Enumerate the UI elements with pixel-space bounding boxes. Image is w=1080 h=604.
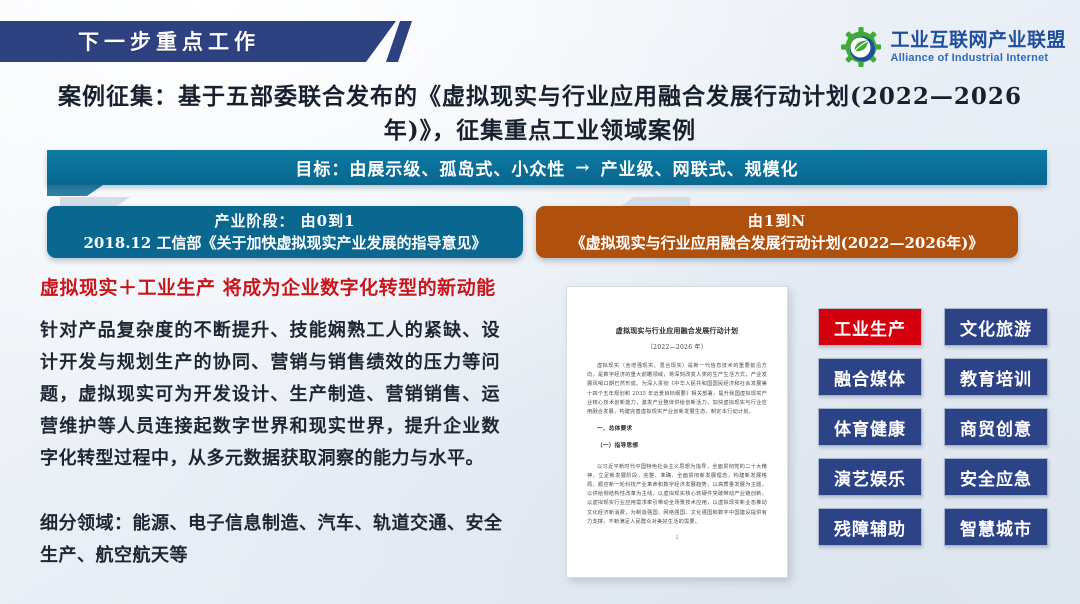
left-subfields-text: 细分领域：能源、电子信息制造、汽车、轨道交通、安全生产、航空航天等 [40, 508, 510, 572]
gear-leaf-logo-icon [839, 25, 883, 69]
document-paragraph-2: 以习近平新时代中国特色社会主义思想为指导，全面贯彻党的二十大精神，立足新发展阶段… [587, 463, 767, 527]
document-heading-1: 一、总体要求 [587, 425, 767, 434]
chip-sports-health[interactable]: 体育健康 [818, 408, 922, 446]
logo-wordmark: 工业互联网产业联盟 Alliance of Industrial Interne… [890, 31, 1066, 64]
goal-bar: 目标：由展示级、孤岛式、小众性 → 产业级、网联式、规模化 [47, 150, 1047, 185]
document-preview-thumbnail[interactable]: 虚拟现实与行业应用融合发展行动计划 （2022—2026 年） 虚拟现实（含增强… [566, 286, 788, 578]
slide-root: 下一步重点工作 [0, 0, 1080, 604]
stage-orange-line1: 由1到N [748, 211, 806, 232]
document-subtitle: （2022—2026 年） [587, 342, 767, 351]
chip-safety-emergency[interactable]: 安全应急 [944, 458, 1048, 496]
stage-blue-line2: 2018.12 工信部《关于加快虚拟现实产业发展的指导意见》 [83, 232, 486, 254]
ribbon-title: 下一步重点工作 [78, 21, 260, 62]
chip-industrial-production[interactable]: 工业生产 [818, 308, 922, 346]
stage-blue-line1: 产业阶段： 由0到1 [214, 211, 355, 232]
document-page-number: 1 [587, 535, 767, 541]
logo-name-en: Alliance of Industrial Internet [890, 53, 1066, 64]
chip-smart-city[interactable]: 智慧城市 [944, 508, 1048, 546]
document-title: 虚拟现实与行业应用融合发展行动计划 [587, 325, 767, 336]
goal-bar-tab-accent [47, 185, 103, 196]
chip-commerce-creative[interactable]: 商贸创意 [944, 408, 1048, 446]
stage-orange-line2: 《虚拟现实与行业应用融合发展行动计划(2022—2026年)》 [571, 232, 984, 254]
logo-name-cn: 工业互联网产业联盟 [890, 31, 1066, 50]
chip-converged-media[interactable]: 融合媒体 [818, 358, 922, 396]
chip-disability-assistance[interactable]: 残障辅助 [818, 508, 922, 546]
chip-culture-tourism[interactable]: 文化旅游 [944, 308, 1048, 346]
stage-card-phase-0-to-1: 产业阶段： 由0到1 2018.12 工信部《关于加快虚拟现实产业发展的指导意见… [47, 206, 523, 258]
slide-heading: 案例征集：基于五部委联合发布的《虚拟现实与行业应用融合发展行动计划(2022—2… [36, 80, 1044, 148]
chip-education-training[interactable]: 教育培训 [944, 358, 1048, 396]
document-heading-2: （一）指导思想 [587, 442, 767, 451]
header-ribbon: 下一步重点工作 [0, 21, 430, 62]
document-paragraph-1: 虚拟现实（含增强现实、混合现实）是新一代信息技术的重要前沿方向，是数字经济的重大… [587, 362, 767, 417]
goal-bar-target: 产业级、网联式、规模化 [601, 155, 799, 180]
goal-arrow-icon: → [575, 158, 590, 178]
goal-bar-label: 目标：由展示级、孤岛式、小众性 [295, 155, 565, 180]
left-red-heading: 虚拟现实＋工业生产 将成为企业数字化转型的新动能 [40, 273, 550, 300]
chip-performance-entertainment[interactable]: 演艺娱乐 [818, 458, 922, 496]
brand-logo: 工业互联网产业联盟 Alliance of Industrial Interne… [839, 25, 1066, 69]
stage-card-phase-1-to-n: 由1到N 《虚拟现实与行业应用融合发展行动计划(2022—2026年)》 [536, 206, 1018, 258]
domain-chip-grid: 工业生产 文化旅游 融合媒体 教育培训 体育健康 商贸创意 演艺娱乐 安全应急 … [818, 308, 1060, 546]
left-body-paragraph: 针对产品复杂度的不断提升、技能娴熟工人的紧缺、设计开发与规划生产的协同、营销与销… [40, 315, 500, 475]
